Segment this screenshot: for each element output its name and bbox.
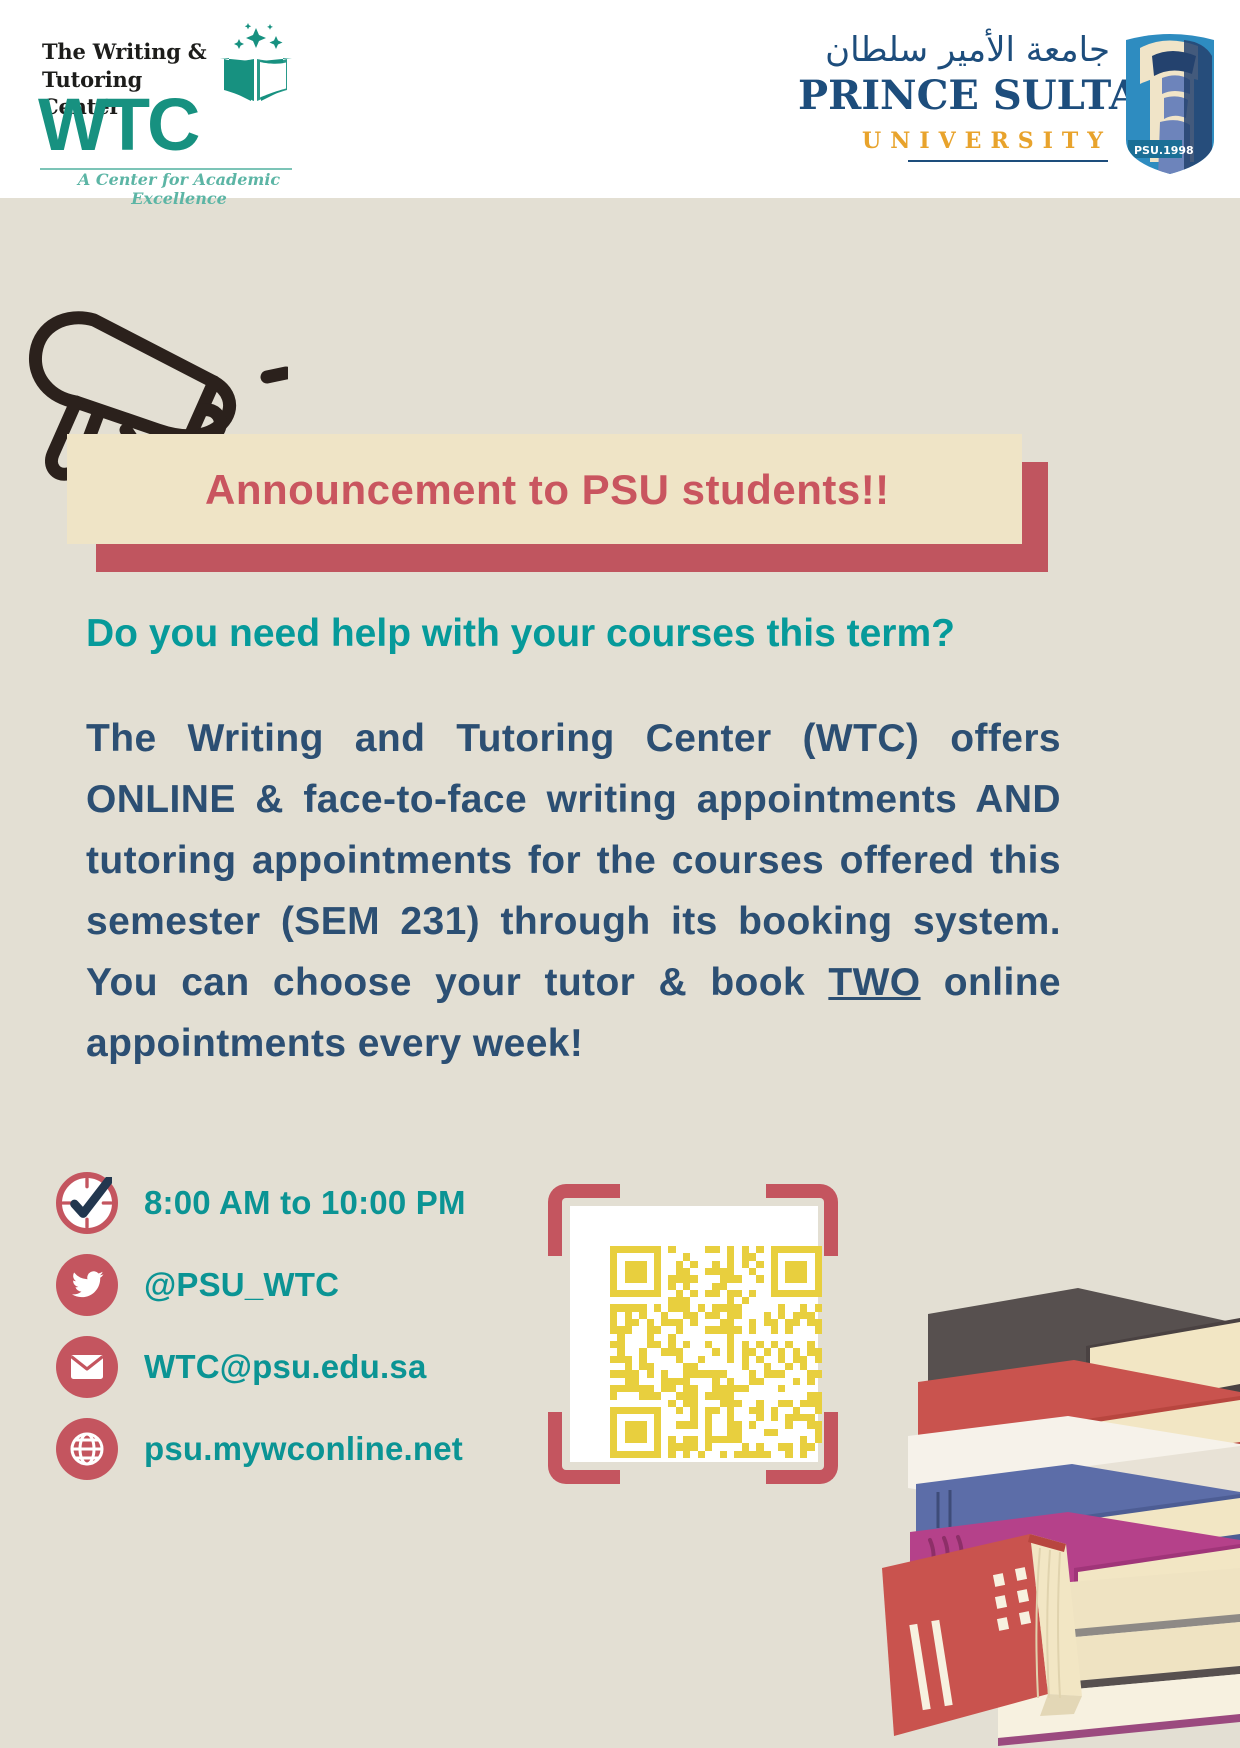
wtc-logo-acronym: WTC: [38, 90, 298, 160]
twitter-icon: [56, 1254, 118, 1316]
header-band: The Writing & Tutoring Center WTC: [0, 0, 1240, 198]
qr-bracket-top-left: [548, 1184, 620, 1256]
contact-list: 8:00 AM to 10:00 PM @PSU_WTC WTC@psu.edu…: [56, 1162, 526, 1490]
contact-label-hours: 8:00 AM to 10:00 PM: [144, 1184, 466, 1222]
body-paragraph: The Writing and Tutoring Center (WTC) of…: [86, 708, 1061, 1074]
contact-item-website[interactable]: psu.mywconline.net: [56, 1408, 526, 1490]
psu-founder-shield-icon: PSU.1998: [1122, 30, 1218, 176]
announcement-title: Announcement to PSU students!!: [205, 466, 890, 514]
wtc-logo-tagline: A Center for Academic Excellence: [54, 170, 304, 208]
qr-bracket-bottom-left: [548, 1412, 620, 1484]
email-icon: [56, 1336, 118, 1398]
clock-check-icon: [56, 1172, 118, 1234]
contact-item-hours: 8:00 AM to 10:00 PM: [56, 1162, 526, 1244]
qr-code[interactable]: [548, 1184, 838, 1484]
body-segment-two-emphasis: TWO: [828, 961, 920, 1004]
contact-label-email: WTC@psu.edu.sa: [144, 1348, 427, 1386]
psu-logo-underline: [908, 160, 1108, 162]
qr-bracket-top-right: [766, 1184, 838, 1256]
psu-logo-arabic-name: جامعة الأمير سلطان: [800, 30, 1110, 70]
contact-label-website: psu.mywconline.net: [144, 1430, 463, 1468]
contact-label-twitter: @PSU_WTC: [144, 1266, 339, 1304]
psu-logo: جامعة الأمير سلطان PRINCE SULTAN UNIVERS…: [798, 24, 1218, 184]
psu-logo-subtitle: UNIVERSITY: [798, 128, 1112, 154]
contact-item-email[interactable]: WTC@psu.edu.sa: [56, 1326, 526, 1408]
globe-icon: [56, 1418, 118, 1480]
poster: The Writing & Tutoring Center WTC: [0, 0, 1240, 1748]
wtc-logo-line1: The Writing &: [42, 38, 207, 66]
psu-logo-english-name: PRINCE SULTAN: [798, 76, 1114, 116]
wtc-logo: The Writing & Tutoring Center WTC: [38, 18, 338, 190]
contact-item-twitter[interactable]: @PSU_WTC: [56, 1244, 526, 1326]
page-headline: Do you need help with your courses this …: [86, 612, 1096, 656]
qr-bracket-bottom-right: [766, 1412, 838, 1484]
book-stack-icon: [868, 1196, 1240, 1748]
psu-emblem-caption: PSU.1998: [1134, 144, 1194, 157]
